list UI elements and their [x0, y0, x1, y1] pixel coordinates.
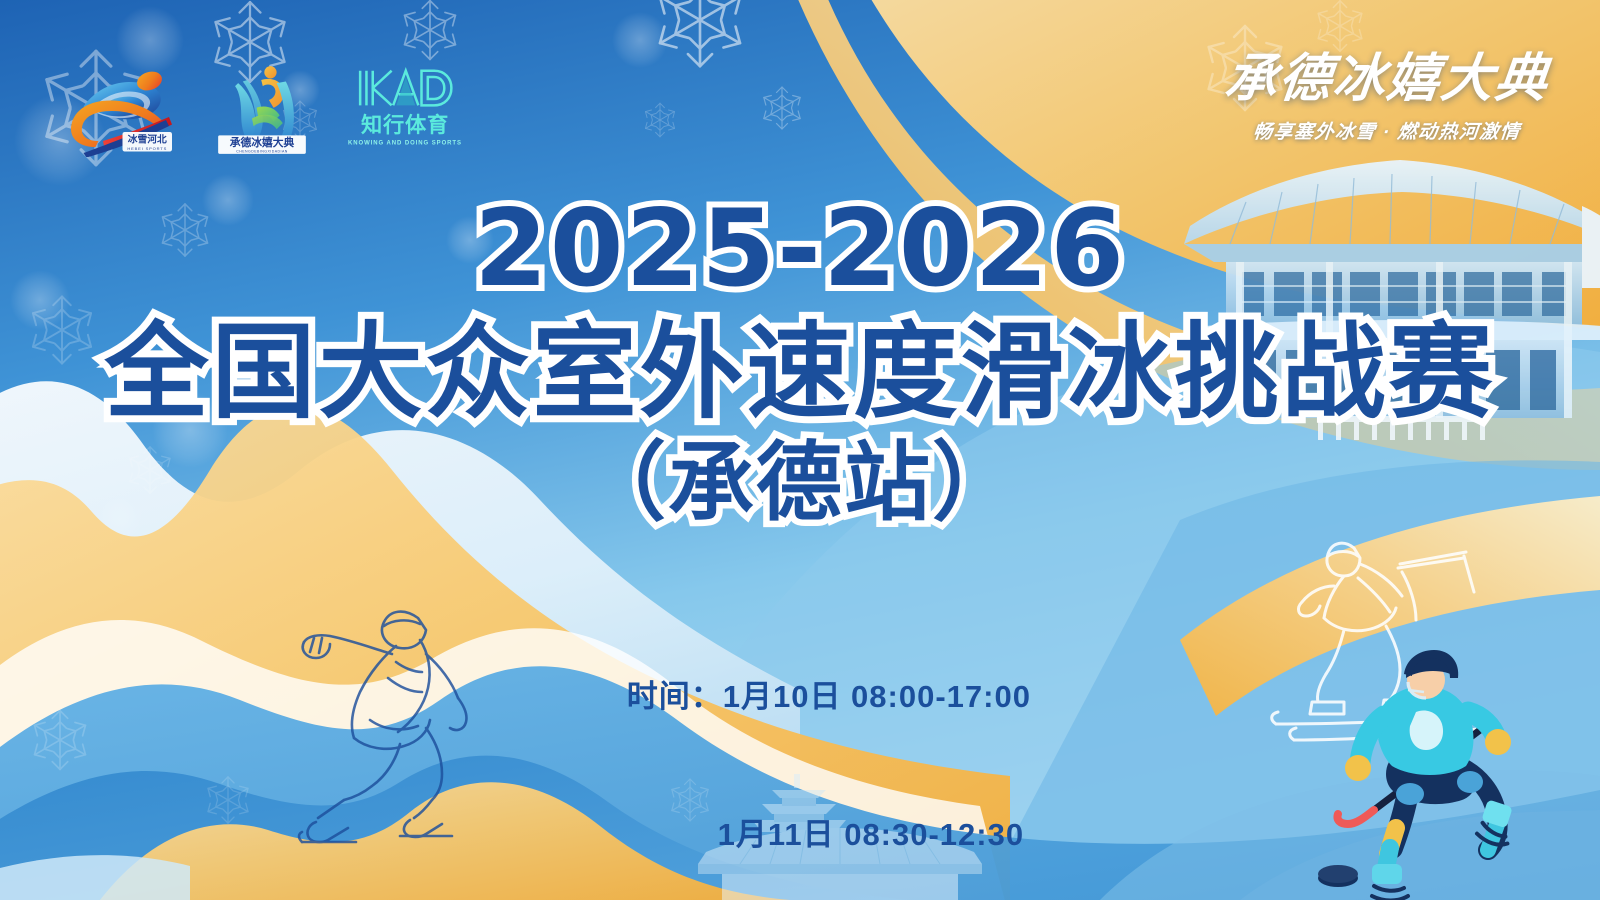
headline-block: 2025-2026 全国大众室外速度滑冰挑战赛 （承德站）: [0, 196, 1600, 531]
event-brand-mark: 承德冰嬉大典 畅享塞外冰雪 · 燃动热河激情: [1222, 52, 1552, 144]
hebei-sports-logo[interactable]: 冰雪河北 HEBEI SPORTS: [58, 63, 178, 158]
brand-title: 承德冰嬉大典: [1219, 52, 1555, 108]
kad-logo-cn: 知行体育: [361, 112, 449, 137]
info-time-row-1: 时间：1月10日 08:00-17:00: [0, 628, 1600, 766]
kad-logo-en: KNOWING AND DOING SPORTS: [348, 141, 462, 147]
kad-knowing-and-doing-sports-logo[interactable]: 知行体育 KNOWING AND DOING SPORTS: [346, 66, 464, 154]
time-value-1: 1月10日 08:00-17:00: [723, 679, 1031, 714]
event-year: 2025-2026: [0, 196, 1600, 302]
page-title: 全国大众室外速度滑冰挑战赛: [0, 316, 1600, 428]
brand-subtitle: 畅享塞外冰雪 · 燃动热河激情: [1221, 117, 1554, 144]
hebei-logo-en: HEBEI SPORTS: [127, 146, 167, 151]
hebei-logo-cn: 冰雪河北: [128, 132, 167, 145]
event-info-block: 时间：1月10日 08:00-17:00 1月11日 08:30-12:30 地…: [0, 628, 1600, 900]
info-time-row-2: 1月11日 08:30-12:30: [0, 766, 1600, 900]
event-station: （承德站）: [0, 436, 1600, 531]
poster-canvas: 冰雪河北 HEBEI SPORTS: [0, 0, 1600, 900]
chengde-logo-en: CHENGDEBINGXIDADIAN: [236, 149, 288, 153]
chengde-bingxi-dadian-logo[interactable]: 承德冰嬉大典 CHENGDEBINGXIDADIAN: [212, 60, 312, 160]
time-label: 时间：: [627, 679, 723, 714]
sponsor-logo-bar: 冰雪河北 HEBEI SPORTS: [58, 60, 464, 160]
chengde-logo-cn: 承德冰嬉大典: [230, 136, 295, 149]
time-value-2: 1月11日 08:30-12:30: [718, 817, 1025, 852]
